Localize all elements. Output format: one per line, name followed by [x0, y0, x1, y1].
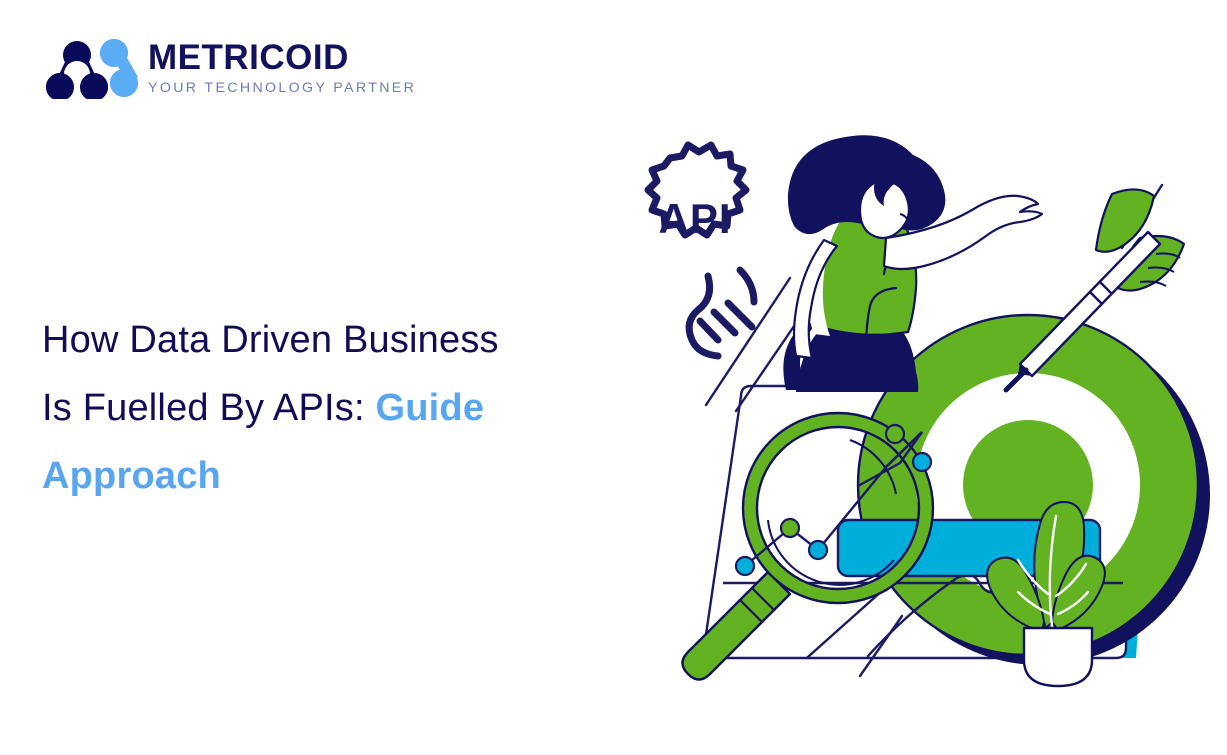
- logo-wordmark-text: METRICOID: [148, 40, 349, 76]
- site-logo[interactable]: METRICOID YOUR TECHNOLOGY PARTNER: [46, 30, 406, 104]
- api-bubble-label: API: [658, 195, 731, 242]
- logo-wordmark-metricoid: METRICOID: [148, 40, 398, 76]
- headline-line-2-plain: Is Fuelled By APIs:: [42, 387, 375, 429]
- headline-accent-guide: Guide: [375, 387, 484, 429]
- illustration-svg: API: [600, 128, 1220, 693]
- logo-text-block: METRICOID YOUR TECHNOLOGY PARTNER: [148, 40, 416, 96]
- headline-accent-approach: Approach: [42, 455, 221, 497]
- page-title: How Data Driven Business Is Fuelled By A…: [42, 306, 602, 510]
- logo-tagline: YOUR TECHNOLOGY PARTNER: [148, 80, 416, 96]
- headline-line-1: How Data Driven Business: [42, 319, 499, 361]
- metricoid-molecule-mark: [46, 35, 138, 99]
- api-gear-speech-bubble: API: [648, 145, 754, 356]
- hero-illustration: API: [600, 128, 1220, 693]
